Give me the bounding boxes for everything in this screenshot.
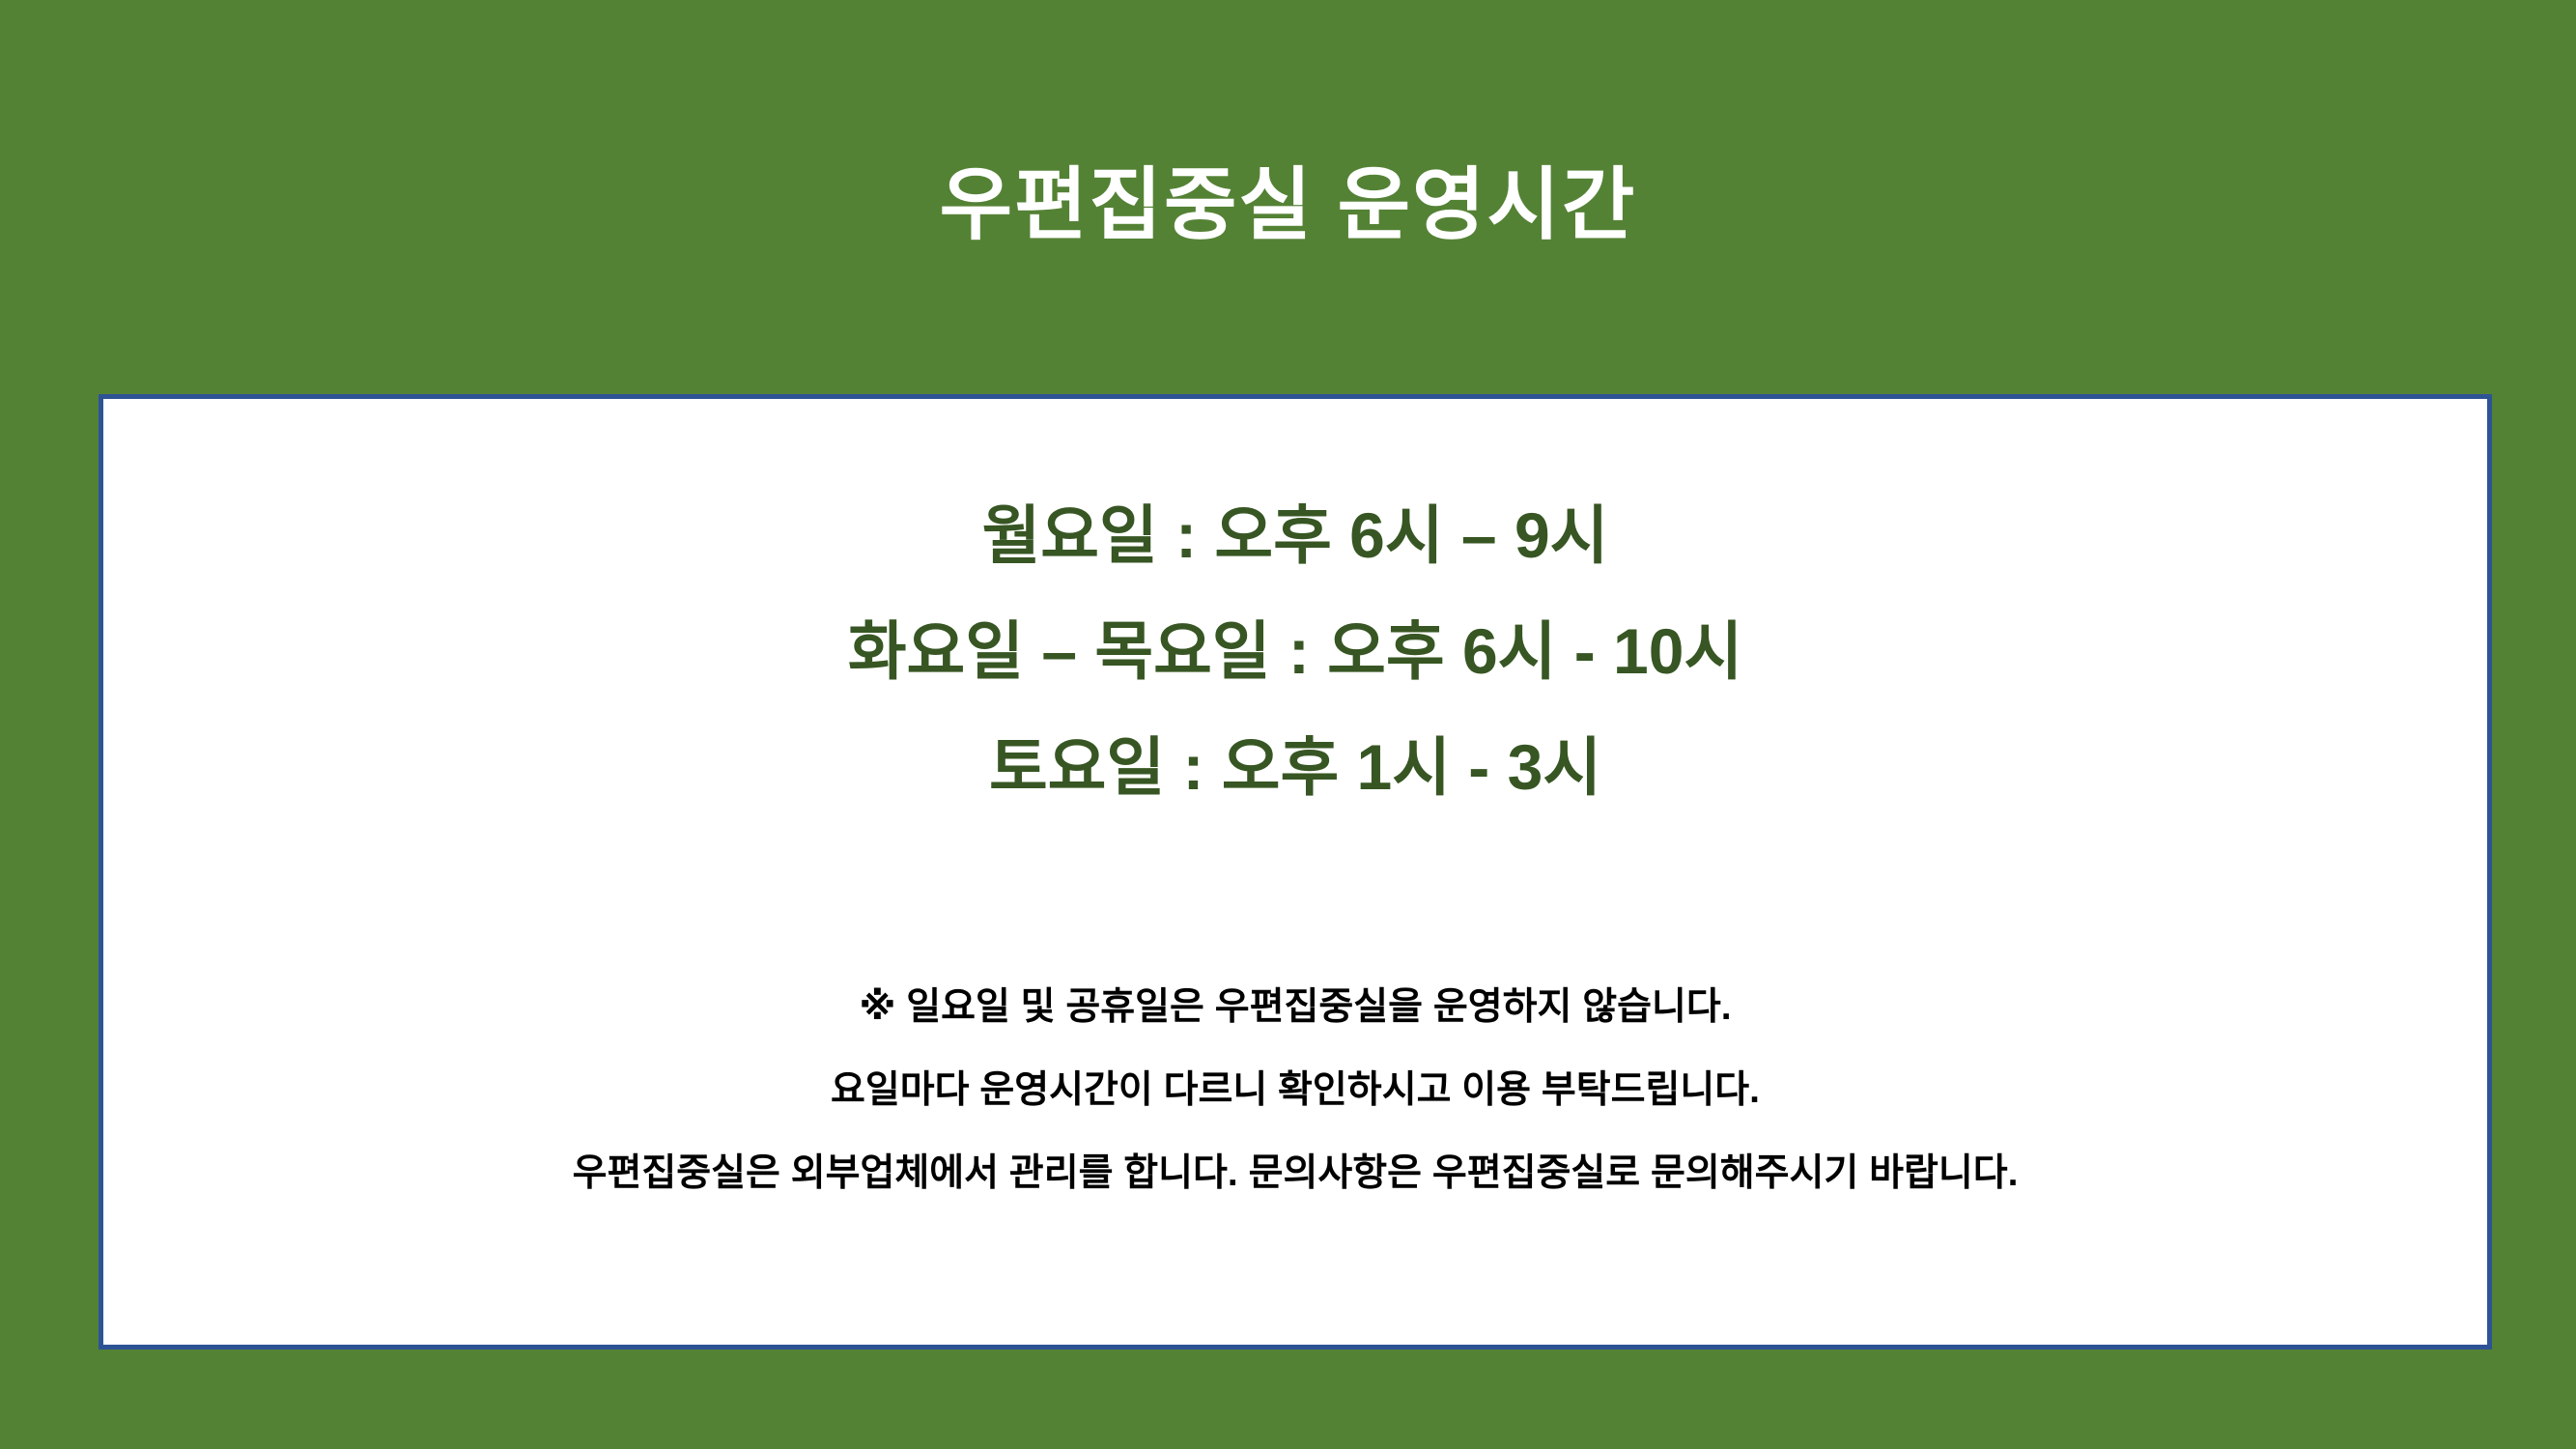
notice-line-varying-hours: 요일마다 운영시간이 다르니 확인하시고 이용 부탁드립니다. — [103, 1071, 2487, 1109]
page-title: 우편집중실 운영시간 — [0, 162, 2576, 249]
notice-line-external-management: 우편집중실은 외부업체에서 관리를 합니다. 문의사항은 우편집중실로 문의해주… — [103, 1154, 2487, 1192]
content-panel: 월요일 : 오후 6시 – 9시 화요일 – 목요일 : 오후 6시 - 10시… — [99, 394, 2492, 1350]
notice-list: ※ 일요일 및 공휴일은 우편집중실을 운영하지 않습니다. 요일마다 운영시간… — [103, 988, 2487, 1237]
hours-line-tuesday-thursday: 화요일 – 목요일 : 오후 6시 - 10시 — [103, 619, 2487, 683]
operating-hours-list: 월요일 : 오후 6시 – 9시 화요일 – 목요일 : 오후 6시 - 10시… — [103, 503, 2487, 851]
hours-line-saturday: 토요일 : 오후 1시 - 3시 — [103, 735, 2487, 799]
notice-line-closed-days: ※ 일요일 및 공휴일은 우편집중실을 운영하지 않습니다. — [103, 988, 2487, 1026]
poster-root: 우편집중실 운영시간 월요일 : 오후 6시 – 9시 화요일 – 목요일 : … — [0, 0, 2576, 1449]
hours-line-monday: 월요일 : 오후 6시 – 9시 — [103, 503, 2487, 567]
